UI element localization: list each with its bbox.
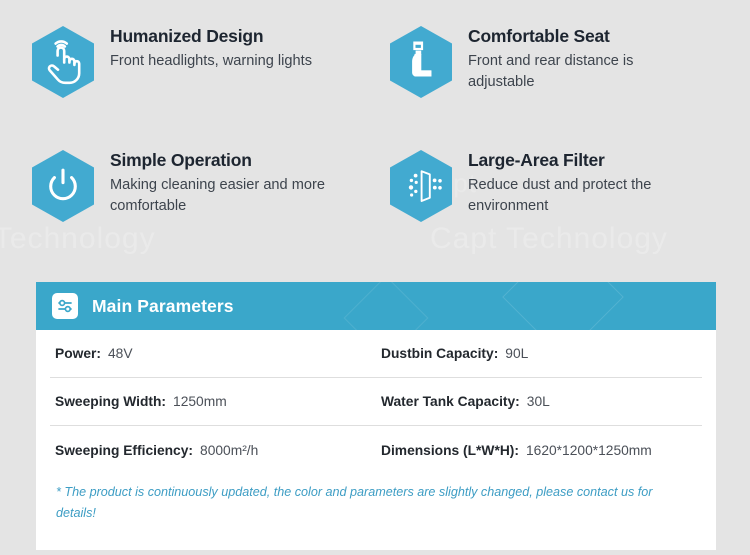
feature-title: Comfortable Seat: [468, 26, 703, 48]
power-button-icon: [30, 149, 96, 223]
feature-text: Large-Area Filter Reduce dust and protec…: [468, 147, 703, 216]
feature-card-large-area-filter: Large-Area Filter Reduce dust and protec…: [375, 124, 750, 248]
param-cell: Dimensions (L*W*H): 1620*1200*1250mm: [380, 443, 652, 458]
param-value: 8000m²/h: [200, 443, 258, 458]
feature-text: Humanized Design Front headlights, warni…: [110, 23, 312, 72]
param-value: 1620*1200*1250mm: [526, 443, 652, 458]
param-cell: Power: 48V: [50, 346, 380, 361]
table-row: Sweeping Width: 1250mm Water Tank Capaci…: [50, 378, 702, 426]
param-label: Sweeping Width:: [55, 394, 166, 409]
card-bottom-padding: [36, 544, 716, 550]
feature-description: Reduce dust and protect the environment: [468, 175, 703, 216]
filter-particles-icon: [388, 149, 454, 223]
param-cell: Sweeping Width: 1250mm: [50, 394, 380, 409]
feature-card-simple-operation: Simple Operation Making cleaning easier …: [0, 124, 375, 248]
feature-description: Front and rear distance is adjustable: [468, 51, 703, 92]
param-value: 30L: [527, 394, 550, 409]
param-value: 90L: [505, 346, 528, 361]
param-label: Power:: [55, 346, 101, 361]
feature-title: Large-Area Filter: [468, 150, 703, 172]
table-row: Sweeping Efficiency: 8000m²/h Dimensions…: [50, 426, 702, 474]
feature-card-comfortable-seat: Comfortable Seat Front and rear distance…: [375, 0, 750, 124]
main-parameters-header: Main Parameters: [36, 282, 716, 330]
car-seat-icon: [388, 25, 454, 99]
param-value: 1250mm: [173, 394, 227, 409]
param-label: Water Tank Capacity:: [381, 394, 520, 409]
features-grid: Humanized Design Front headlights, warni…: [0, 0, 750, 248]
feature-title: Humanized Design: [110, 26, 312, 48]
header-decoration-diamond: [344, 282, 429, 330]
table-row: Power: 48V Dustbin Capacity: 90L: [50, 330, 702, 378]
param-cell: Sweeping Efficiency: 8000m²/h: [50, 443, 380, 458]
main-parameters-title: Main Parameters: [92, 296, 234, 317]
sliders-settings-icon: [52, 293, 78, 319]
feature-title: Simple Operation: [110, 150, 345, 172]
hand-pointer-icon: [30, 25, 96, 99]
parameters-note: * The product is continuously updated, t…: [36, 474, 706, 544]
param-label: Dimensions (L*W*H):: [381, 443, 519, 458]
param-label: Sweeping Efficiency:: [55, 443, 193, 458]
main-parameters-card: Main Parameters Power: 48V Dustbin Capac…: [36, 282, 716, 550]
param-label: Dustbin Capacity:: [381, 346, 498, 361]
feature-description: Making cleaning easier and more comforta…: [110, 175, 345, 216]
feature-card-humanized-design: Humanized Design Front headlights, warni…: [0, 0, 375, 124]
header-decoration-diamond: [502, 282, 624, 330]
param-cell: Water Tank Capacity: 30L: [380, 394, 550, 409]
feature-description: Front headlights, warning lights: [110, 51, 312, 72]
main-parameters-body: Power: 48V Dustbin Capacity: 90L Sweepin…: [36, 330, 716, 550]
param-cell: Dustbin Capacity: 90L: [380, 346, 528, 361]
feature-text: Simple Operation Making cleaning easier …: [110, 147, 345, 216]
param-value: 48V: [108, 346, 133, 361]
feature-text: Comfortable Seat Front and rear distance…: [468, 23, 703, 92]
